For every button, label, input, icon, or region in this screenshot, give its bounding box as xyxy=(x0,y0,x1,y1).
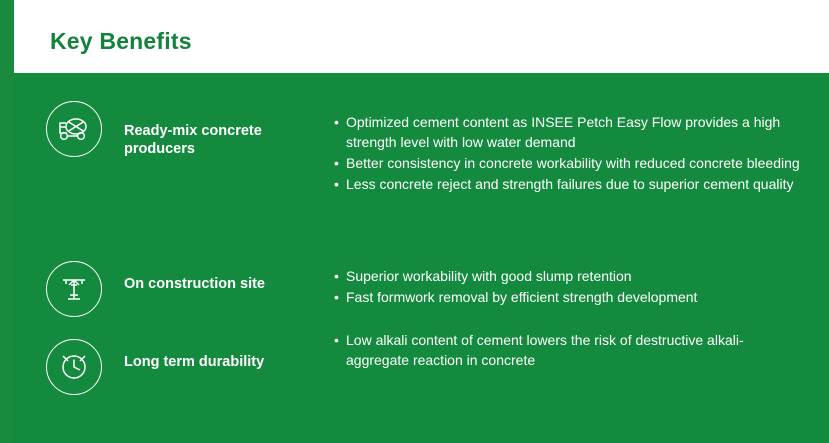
page-title: Key Benefits xyxy=(50,28,192,55)
benefit-bullet-list: • Optimized cement content as INSEE Petc… xyxy=(334,113,804,196)
bullet-marker: • xyxy=(334,175,339,195)
bullet-marker: • xyxy=(334,113,339,133)
list-item: • Better consistency in concrete workabi… xyxy=(334,154,804,174)
benefit-row: Ready-mix concrete producers • Optimized… xyxy=(14,93,829,243)
list-item: • Optimized cement content as INSEE Petc… xyxy=(334,113,804,153)
benefit-icon-wrapper xyxy=(46,339,102,395)
list-item-text: Superior workability with good slump ret… xyxy=(346,268,632,284)
list-item: • Fast formwork removal by efficient str… xyxy=(334,288,804,308)
bullet-marker: • xyxy=(334,331,339,351)
benefit-bullet-list: • Superior workability with good slump r… xyxy=(334,267,804,309)
list-item-text: Low alkali content of cement lowers the … xyxy=(346,332,744,368)
list-item: • Less concrete reject and strength fail… xyxy=(334,175,804,195)
list-item-text: Better consistency in concrete workabili… xyxy=(346,155,800,171)
benefit-bullet-list: • Low alkali content of cement lowers th… xyxy=(334,331,804,372)
benefit-icon-wrapper xyxy=(46,261,102,317)
list-item-text: Optimized cement content as INSEE Petch … xyxy=(346,114,780,150)
list-item-text: Fast formwork removal by efficient stren… xyxy=(346,289,697,305)
construction-crane-icon xyxy=(46,261,102,317)
clock-durability-icon xyxy=(46,339,102,395)
left-accent-strip xyxy=(0,0,14,443)
slide: Key Benefits Ready-mix concrete xyxy=(0,0,829,443)
bullet-marker: • xyxy=(334,288,339,308)
benefit-row: On construction site • Superior workabil… xyxy=(14,253,829,323)
bullet-marker: • xyxy=(334,267,339,287)
list-item: • Superior workability with good slump r… xyxy=(334,267,804,287)
benefits-panel: Ready-mix concrete producers • Optimized… xyxy=(14,73,829,443)
list-item-text: Less concrete reject and strength failur… xyxy=(346,176,793,192)
benefit-row-label: Ready-mix concrete producers xyxy=(124,122,324,158)
list-item: • Low alkali content of cement lowers th… xyxy=(334,331,804,371)
benefit-row: Long term durability • Low alkali conten… xyxy=(14,331,829,401)
concrete-mixer-truck-icon xyxy=(46,101,102,157)
benefit-icon-wrapper xyxy=(46,101,102,157)
benefit-row-label: Long term durability xyxy=(124,353,324,371)
bullet-marker: • xyxy=(334,154,339,174)
benefit-row-label: On construction site xyxy=(124,275,324,293)
slide-header: Key Benefits xyxy=(14,0,829,73)
